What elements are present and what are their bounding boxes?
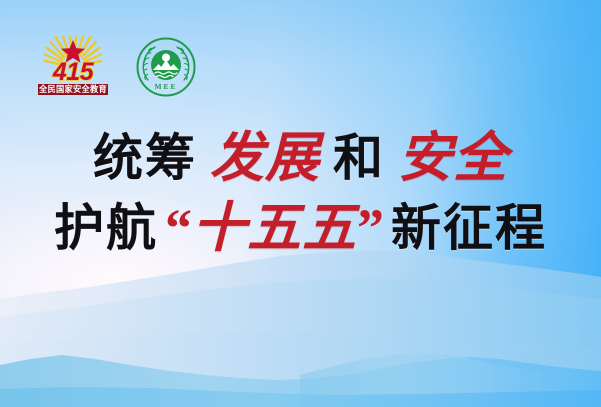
poster-canvas: 全民国家安全教育 xyxy=(0,0,601,407)
headline-seg-fazhan: 发展 xyxy=(210,128,320,188)
mee-abbr-label: MEE xyxy=(154,82,177,91)
headline-seg-tongchou: 统筹 xyxy=(93,130,197,186)
headline-seg-shiwuwu: 十五五 xyxy=(192,198,357,258)
headline-seg-huhang: 护航 xyxy=(54,200,158,256)
headline-seg-anquan: 安全 xyxy=(398,128,508,188)
headline-seg-he: 和 xyxy=(333,130,385,186)
headline-open-quote: “ xyxy=(165,198,192,258)
headline-line-1: 统筹发展和安全 xyxy=(0,131,601,185)
logo-415-numeral: 415 xyxy=(52,58,95,86)
headline-line-2: 护航“十五五”新征程 xyxy=(0,201,601,255)
mountain-range-illustration xyxy=(0,247,601,407)
national-security-education-day-logo: 全民国家安全教育 xyxy=(33,36,113,98)
poster-headline: 统筹发展和安全 护航“十五五”新征程 xyxy=(0,131,601,255)
ministry-of-ecology-environment-logo: MEE xyxy=(135,36,197,98)
logo-row: 全民国家安全教育 xyxy=(33,36,197,98)
headline-seg-xinzhengcheng: 新征程 xyxy=(391,200,547,256)
logo-415-tagline: 全民国家安全教育 xyxy=(38,84,107,94)
headline-close-quote: ” xyxy=(357,198,384,258)
